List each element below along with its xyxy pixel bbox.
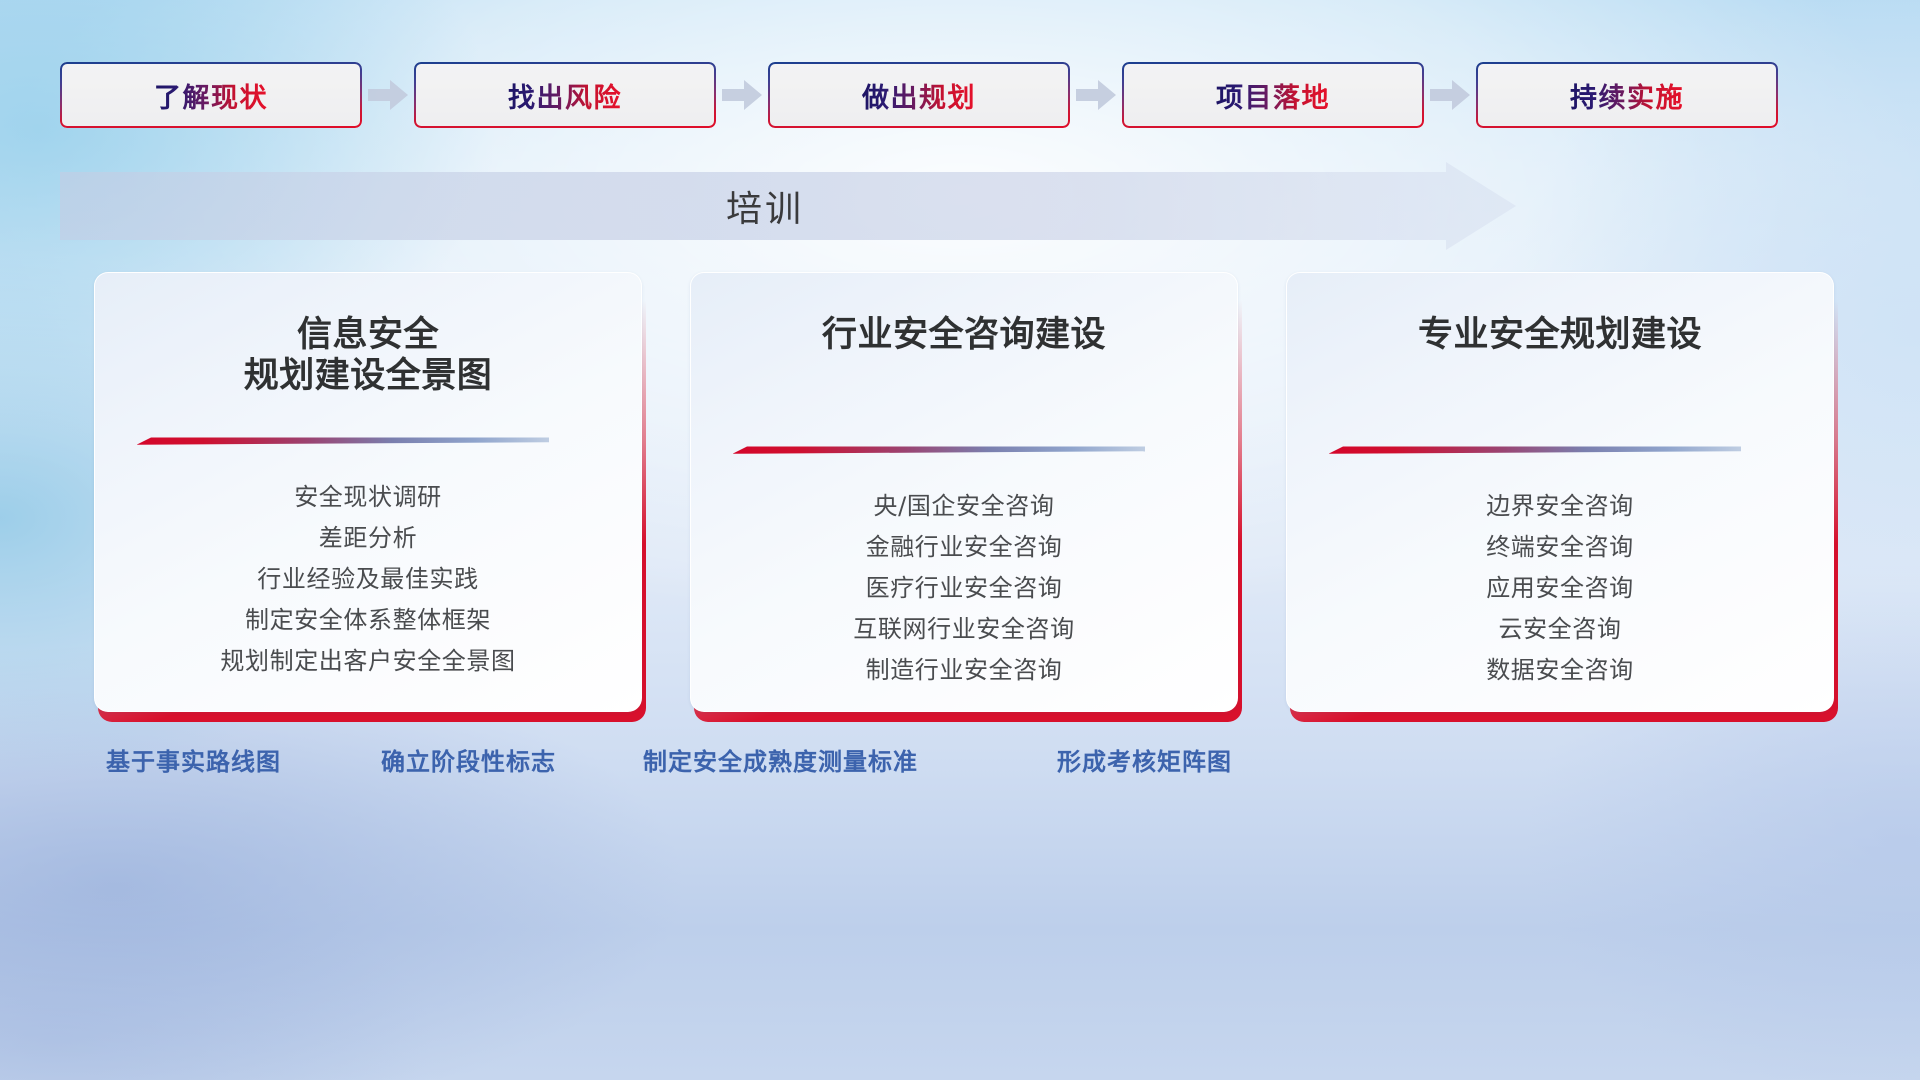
footnote-label-1: 基于事实路线图 — [106, 742, 281, 777]
training-banner: 培训 — [60, 162, 1516, 250]
card-list-item[interactable]: 终端安全咨询 — [1486, 535, 1634, 559]
process-step-label: 了解现状 — [154, 76, 268, 115]
card-title: 行业安全咨询建设 — [822, 313, 1106, 358]
card-list-item[interactable]: 互联网行业安全咨询 — [853, 617, 1074, 641]
card-body: 专业安全规划建设 边界安全咨询终端安全咨询应用安全咨询云安全咨询数据安全咨询 — [1286, 272, 1834, 712]
card-title-line: 规划建设全景图 — [244, 354, 493, 399]
card-title: 信息安全规划建设全景图 — [244, 313, 493, 399]
step-connector-arrow-right-icon — [1424, 62, 1476, 128]
card-list-item[interactable]: 制造行业安全咨询 — [866, 658, 1063, 682]
service-card-1[interactable]: 信息安全规划建设全景图 安全现状调研差距分析行业经验及最佳实践制定安全体系整体框… — [94, 272, 642, 712]
process-step-2[interactable]: 找出风险 — [414, 62, 716, 128]
card-title: 专业安全规划建设 — [1418, 313, 1702, 358]
process-step-5[interactable]: 持续实施 — [1476, 62, 1778, 128]
step-connector-arrow-right-icon — [362, 62, 414, 128]
banner-label: 培训 — [60, 162, 1470, 250]
footnote-label-2: 确立阶段性标志 — [381, 742, 556, 777]
card-list-item[interactable]: 云安全咨询 — [1498, 617, 1621, 641]
card-list-item[interactable]: 差距分析 — [319, 526, 417, 550]
process-step-label: 做出规划 — [862, 76, 976, 115]
card-divider — [725, 444, 1203, 456]
card-list-item[interactable]: 医疗行业安全咨询 — [866, 576, 1063, 600]
footnote-row: 基于事实路线图确立阶段性标志制定安全成熟度测量标准形成考核矩阵图 — [0, 742, 1920, 788]
card-title-line: 行业安全咨询建设 — [822, 313, 1106, 358]
step-connector-arrow-right-icon — [716, 62, 768, 128]
card-item-list: 央/国企安全咨询金融行业安全咨询医疗行业安全咨询互联网行业安全咨询制造行业安全咨… — [853, 494, 1074, 682]
process-step-row: 了解现状 找出风险 做出规划 项目落地 持续实施 — [60, 62, 1860, 128]
card-list-item[interactable]: 应用安全咨询 — [1486, 576, 1634, 600]
service-card-2[interactable]: 行业安全咨询建设 央/国企安全咨询金融行业安全咨询医疗行业安全咨询互联网行业安全… — [690, 272, 1238, 712]
process-step-label: 找出风险 — [508, 76, 622, 115]
process-step-3[interactable]: 做出规划 — [768, 62, 1070, 128]
card-title-line: 信息安全 — [244, 313, 493, 358]
card-list-item[interactable]: 边界安全咨询 — [1486, 494, 1634, 518]
process-step-4[interactable]: 项目落地 — [1122, 62, 1424, 128]
card-item-list: 边界安全咨询终端安全咨询应用安全咨询云安全咨询数据安全咨询 — [1486, 494, 1634, 682]
card-list-item[interactable]: 数据安全咨询 — [1486, 658, 1634, 682]
card-row: 信息安全规划建设全景图 安全现状调研差距分析行业经验及最佳实践制定安全体系整体框… — [94, 272, 1834, 712]
card-body: 行业安全咨询建设 央/国企安全咨询金融行业安全咨询医疗行业安全咨询互联网行业安全… — [690, 272, 1238, 712]
card-list-item[interactable]: 行业经验及最佳实践 — [257, 567, 478, 591]
card-list-item[interactable]: 央/国企安全咨询 — [874, 494, 1055, 518]
process-step-label: 项目落地 — [1216, 76, 1330, 115]
step-connector-arrow-right-icon — [1070, 62, 1122, 128]
card-list-item[interactable]: 制定安全体系整体框架 — [245, 608, 491, 632]
process-step-1[interactable]: 了解现状 — [60, 62, 362, 128]
service-card-3[interactable]: 专业安全规划建设 边界安全咨询终端安全咨询应用安全咨询云安全咨询数据安全咨询 — [1286, 272, 1834, 712]
card-divider — [129, 435, 607, 447]
footnote-label-4: 形成考核矩阵图 — [1057, 742, 1232, 777]
card-list-item[interactable]: 金融行业安全咨询 — [866, 535, 1063, 559]
card-title-line: 专业安全规划建设 — [1418, 313, 1702, 358]
process-step-label: 持续实施 — [1570, 76, 1684, 115]
card-divider — [1321, 444, 1799, 456]
card-list-item[interactable]: 安全现状调研 — [294, 485, 442, 509]
card-list-item[interactable]: 规划制定出客户安全全景图 — [220, 649, 515, 673]
card-item-list: 安全现状调研差距分析行业经验及最佳实践制定安全体系整体框架规划制定出客户安全全景… — [220, 485, 515, 673]
card-body: 信息安全规划建设全景图 安全现状调研差距分析行业经验及最佳实践制定安全体系整体框… — [94, 272, 642, 712]
footnote-label-3: 制定安全成熟度测量标准 — [643, 742, 918, 777]
